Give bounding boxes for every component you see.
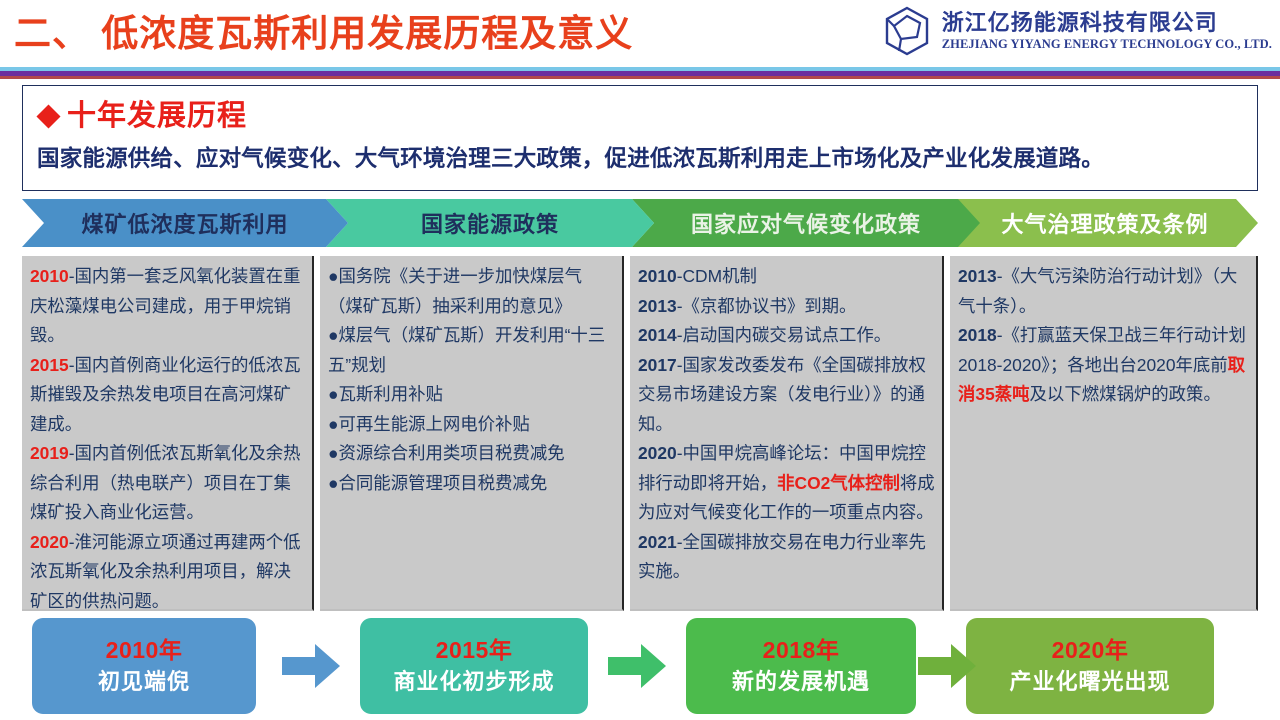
policy-entry: 2020-中国甲烷高峰论坛：中国甲烷控排行动即将开始，非CO2气体控制将成为应对… xyxy=(638,439,936,528)
entry-highlight: 非CO2气体控制 xyxy=(777,473,900,493)
milestone-box-2020[interactable]: 2020年产业化曙光出现 xyxy=(966,618,1214,714)
policy-entry: 2019-国内首例低浓瓦斯氧化及余热综合利用（热电联产）项目在丁集煤矿投入商业化… xyxy=(30,439,306,528)
policy-bullet: ●煤层气（煤矿瓦斯）开发利用“十三五”规划 xyxy=(328,321,616,380)
milestone-year: 2020年 xyxy=(1052,635,1129,665)
entry-year: 2014 xyxy=(638,325,677,345)
content-column-national-climate-change-policy: 2010-CDM机制2013-《京都协议书》到期。2014-启动国内碳交易试点工… xyxy=(630,256,944,611)
milestone-year: 2010年 xyxy=(106,635,183,665)
entry-year: 2017 xyxy=(638,355,677,375)
bullet-dot-icon: ● xyxy=(328,266,339,286)
brand-name-cn: 浙江亿扬能源科技有限公司 xyxy=(942,10,1272,36)
category-chevron-4[interactable]: 大气治理政策及条例 xyxy=(952,199,1258,247)
page-title: 二、 低浓度瓦斯利用发展历程及意义 xyxy=(14,8,633,60)
header-divider xyxy=(0,67,1280,79)
entry-year: 2015 xyxy=(30,355,69,375)
panel-heading: 十年发展历程 xyxy=(37,96,1243,136)
entry-year: 2020 xyxy=(638,443,677,463)
company-brand: 浙江亿扬能源科技有限公司 ZHEJIANG YIYANG ENERGY TECH… xyxy=(884,6,1272,56)
policy-bullet: ●瓦斯利用补贴 xyxy=(328,380,616,410)
category-chevron-2[interactable]: 国家能源政策 xyxy=(326,199,654,247)
content-column-coal-mine-low-concentration-gas: 2010-国内第一套乏风氧化装置在重庆松藻煤电公司建成，用于甲烷销毁。2015-… xyxy=(22,256,314,611)
arrow-2015-to-2018-icon xyxy=(608,644,666,688)
milestone-label: 新的发展机遇 xyxy=(732,667,870,697)
policy-entry: 2015-国内首例商业化运行的低浓瓦斯摧毁及余热发电项目在高河煤矿建成。 xyxy=(30,351,306,440)
milestone-label: 产业化曙光出现 xyxy=(1009,667,1170,697)
category-chevron-3[interactable]: 国家应对气候变化政策 xyxy=(632,199,980,247)
entry-year: 2013 xyxy=(638,296,677,316)
divider-stripe-red xyxy=(0,76,1280,79)
slide-header: 二、 低浓度瓦斯利用发展历程及意义 浙江亿扬能源科技有限公司 ZHEJIANG … xyxy=(0,0,1280,68)
bullet-dot-icon: ● xyxy=(328,473,339,493)
policy-bullet: ●合同能源管理项目税费减免 xyxy=(328,469,616,499)
entry-year: 2020 xyxy=(30,532,69,552)
milestone-year: 2015年 xyxy=(436,635,513,665)
entry-year: 2013 xyxy=(958,266,997,286)
red-diamond-bullet-icon xyxy=(36,104,60,128)
arrow-2010-to-2015-icon xyxy=(282,644,340,688)
milestone-box-2015[interactable]: 2015年商业化初步形成 xyxy=(360,618,588,714)
panel-heading-text: 十年发展历程 xyxy=(67,96,247,136)
category-banner-row: 煤矿低浓度瓦斯利用国家能源政策国家应对气候变化政策大气治理政策及条例 xyxy=(22,199,1258,247)
milestone-label: 初见端倪 xyxy=(98,667,190,697)
panel-subtitle: 国家能源供给、应对气候变化、大气环境治理三大政策，促进低浓瓦斯利用走上市场化及产… xyxy=(37,144,1243,174)
policy-entry: 2021-全国碳排放交易在电力行业率先实施。 xyxy=(638,528,936,587)
policy-entry: 2018-《打赢蓝天保卫战三年行动计划2018-2020》；各地出台2020年底… xyxy=(958,321,1250,410)
entry-year: 2010 xyxy=(30,266,69,286)
policy-entry: 2010-国内第一套乏风氧化装置在重庆松藻煤电公司建成，用于甲烷销毁。 xyxy=(30,262,306,351)
hexagon-cube-logo-icon xyxy=(884,6,930,56)
arrow-2018-to-2020-icon xyxy=(918,644,976,688)
content-column-national-energy-policy: ●国务院《关于进一步加快煤层气（煤矿瓦斯）抽采利用的意见》●煤层气（煤矿瓦斯）开… xyxy=(320,256,624,611)
policy-entry: 2014-启动国内碳交易试点工作。 xyxy=(638,321,936,351)
category-chevron-label: 大气治理政策及条例 xyxy=(1001,207,1208,239)
policy-bullet: ●国务院《关于进一步加快煤层气（煤矿瓦斯）抽采利用的意见》 xyxy=(328,262,616,321)
entry-year: 2019 xyxy=(30,443,69,463)
slide-root: 二、 低浓度瓦斯利用发展历程及意义 浙江亿扬能源科技有限公司 ZHEJIANG … xyxy=(0,0,1280,720)
policy-bullet: ●资源综合利用类项目税费减免 xyxy=(328,439,616,469)
policy-entry: 2020-淮河能源立项通过再建两个低浓瓦斯氧化及余热利用项目，解决矿区的供热问题… xyxy=(30,528,306,612)
entry-year: 2021 xyxy=(638,532,677,552)
policy-entry: 2017-国家发改委发布《全国碳排放权交易市场建设方案（发电行业）》的通知。 xyxy=(638,351,936,440)
content-columns: 2010-国内第一套乏风氧化装置在重庆松藻煤电公司建成，用于甲烷销毁。2015-… xyxy=(22,256,1258,611)
category-chevron-label: 煤矿低浓度瓦斯利用 xyxy=(81,207,288,239)
policy-bullet: ●可再生能源上网电价补贴 xyxy=(328,410,616,440)
content-column-air-treatment-policy: 2013-《大气污染防治行动计划》（大气十条）。2018-《打赢蓝天保卫战三年行… xyxy=(950,256,1258,611)
bullet-dot-icon: ● xyxy=(328,325,339,345)
bullet-dot-icon: ● xyxy=(328,384,339,404)
milestone-box-2010[interactable]: 2010年初见端倪 xyxy=(32,618,256,714)
brand-name-en: ZHEJIANG YIYANG ENERGY TECHNOLOGY CO., L… xyxy=(942,36,1272,52)
bullet-dot-icon: ● xyxy=(328,414,339,434)
policy-entry: 2013-《大气污染防治行动计划》（大气十条）。 xyxy=(958,262,1250,321)
milestone-timeline: 2010年初见端倪2015年商业化初步形成2018年新的发展机遇2020年产业化… xyxy=(0,618,1280,720)
entry-highlight: 取消35蒸吨 xyxy=(958,355,1245,405)
milestone-label: 商业化初步形成 xyxy=(393,667,554,697)
entry-year: 2018 xyxy=(958,325,997,345)
category-chevron-label: 国家能源政策 xyxy=(421,207,559,239)
policy-entry: 2010-CDM机制 xyxy=(638,262,936,292)
policy-entry: 2013-《京都协议书》到期。 xyxy=(638,292,936,322)
category-chevron-1[interactable]: 煤矿低浓度瓦斯利用 xyxy=(22,199,348,247)
milestone-box-2018[interactable]: 2018年新的发展机遇 xyxy=(686,618,916,714)
overview-panel: 十年发展历程 国家能源供给、应对气候变化、大气环境治理三大政策，促进低浓瓦斯利用… xyxy=(22,85,1258,191)
category-chevron-label: 国家应对气候变化政策 xyxy=(691,207,921,239)
entry-year: 2010 xyxy=(638,266,677,286)
bullet-dot-icon: ● xyxy=(328,443,339,463)
milestone-year: 2018年 xyxy=(763,635,840,665)
